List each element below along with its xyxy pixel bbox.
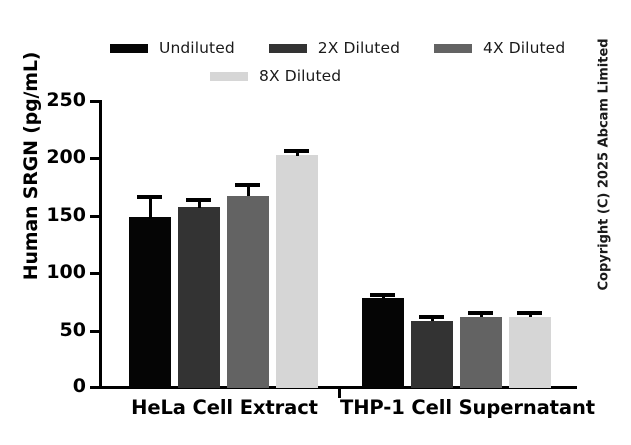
- bar-hela-undiluted: [129, 217, 171, 388]
- bar-hela-4x: [227, 196, 269, 388]
- bar-thp1-2x: [411, 321, 453, 388]
- x-group-label-hela: HeLa Cell Extract: [113, 396, 336, 419]
- errorbar-stem-hela-undiluted: [149, 196, 152, 219]
- chart-figure: Undiluted 2X Diluted 4X Diluted 8X Dilut…: [0, 0, 631, 445]
- errorbar-cap-thp1-2x: [419, 315, 444, 319]
- errorbar-cap-hela-8x: [284, 149, 309, 153]
- errorbar-cap-thp1-undiluted: [370, 293, 395, 297]
- errorbar-cap-thp1-4x: [468, 311, 493, 315]
- errorbar-cap-hela-2x: [186, 198, 211, 202]
- bar-thp1-8x: [509, 317, 551, 388]
- bar-thp1-4x: [460, 317, 502, 388]
- errorbar-cap-thp1-8x: [517, 311, 542, 315]
- copyright-notice: Copyright (C) 2025 Abcam Limited: [597, 41, 612, 291]
- bar-thp1-undiluted: [362, 298, 404, 388]
- errorbar-cap-hela-4x: [235, 183, 260, 187]
- bars-layer: [0, 0, 631, 445]
- errorbar-cap-hela-undiluted: [137, 195, 162, 199]
- bar-hela-2x: [178, 207, 220, 388]
- x-group-label-thp1: THP-1 Cell Supernatant: [340, 396, 580, 419]
- bar-hela-8x: [276, 155, 318, 388]
